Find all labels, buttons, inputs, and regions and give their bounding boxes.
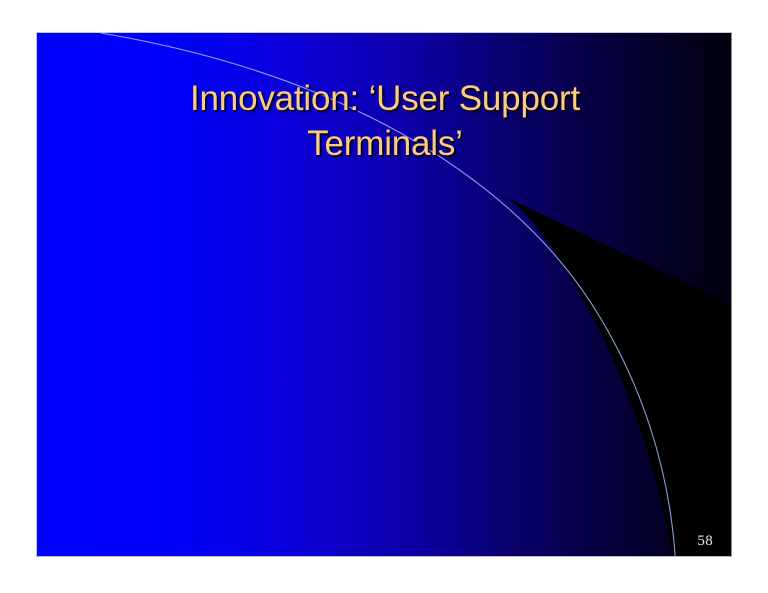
- page-title: Innovation: ‘User Support Terminals’: [85, 77, 685, 167]
- slide-page-number: 58: [697, 533, 713, 550]
- slide-title-block: Innovation: ‘User Support Terminals’: [85, 77, 685, 167]
- screenshot-canvas: Innovation: ‘User Support Terminals’ 58: [0, 0, 768, 593]
- presentation-slide[interactable]: Innovation: ‘User Support Terminals’ 58: [36, 32, 732, 557]
- black-tapered-wedge: [505, 196, 731, 556]
